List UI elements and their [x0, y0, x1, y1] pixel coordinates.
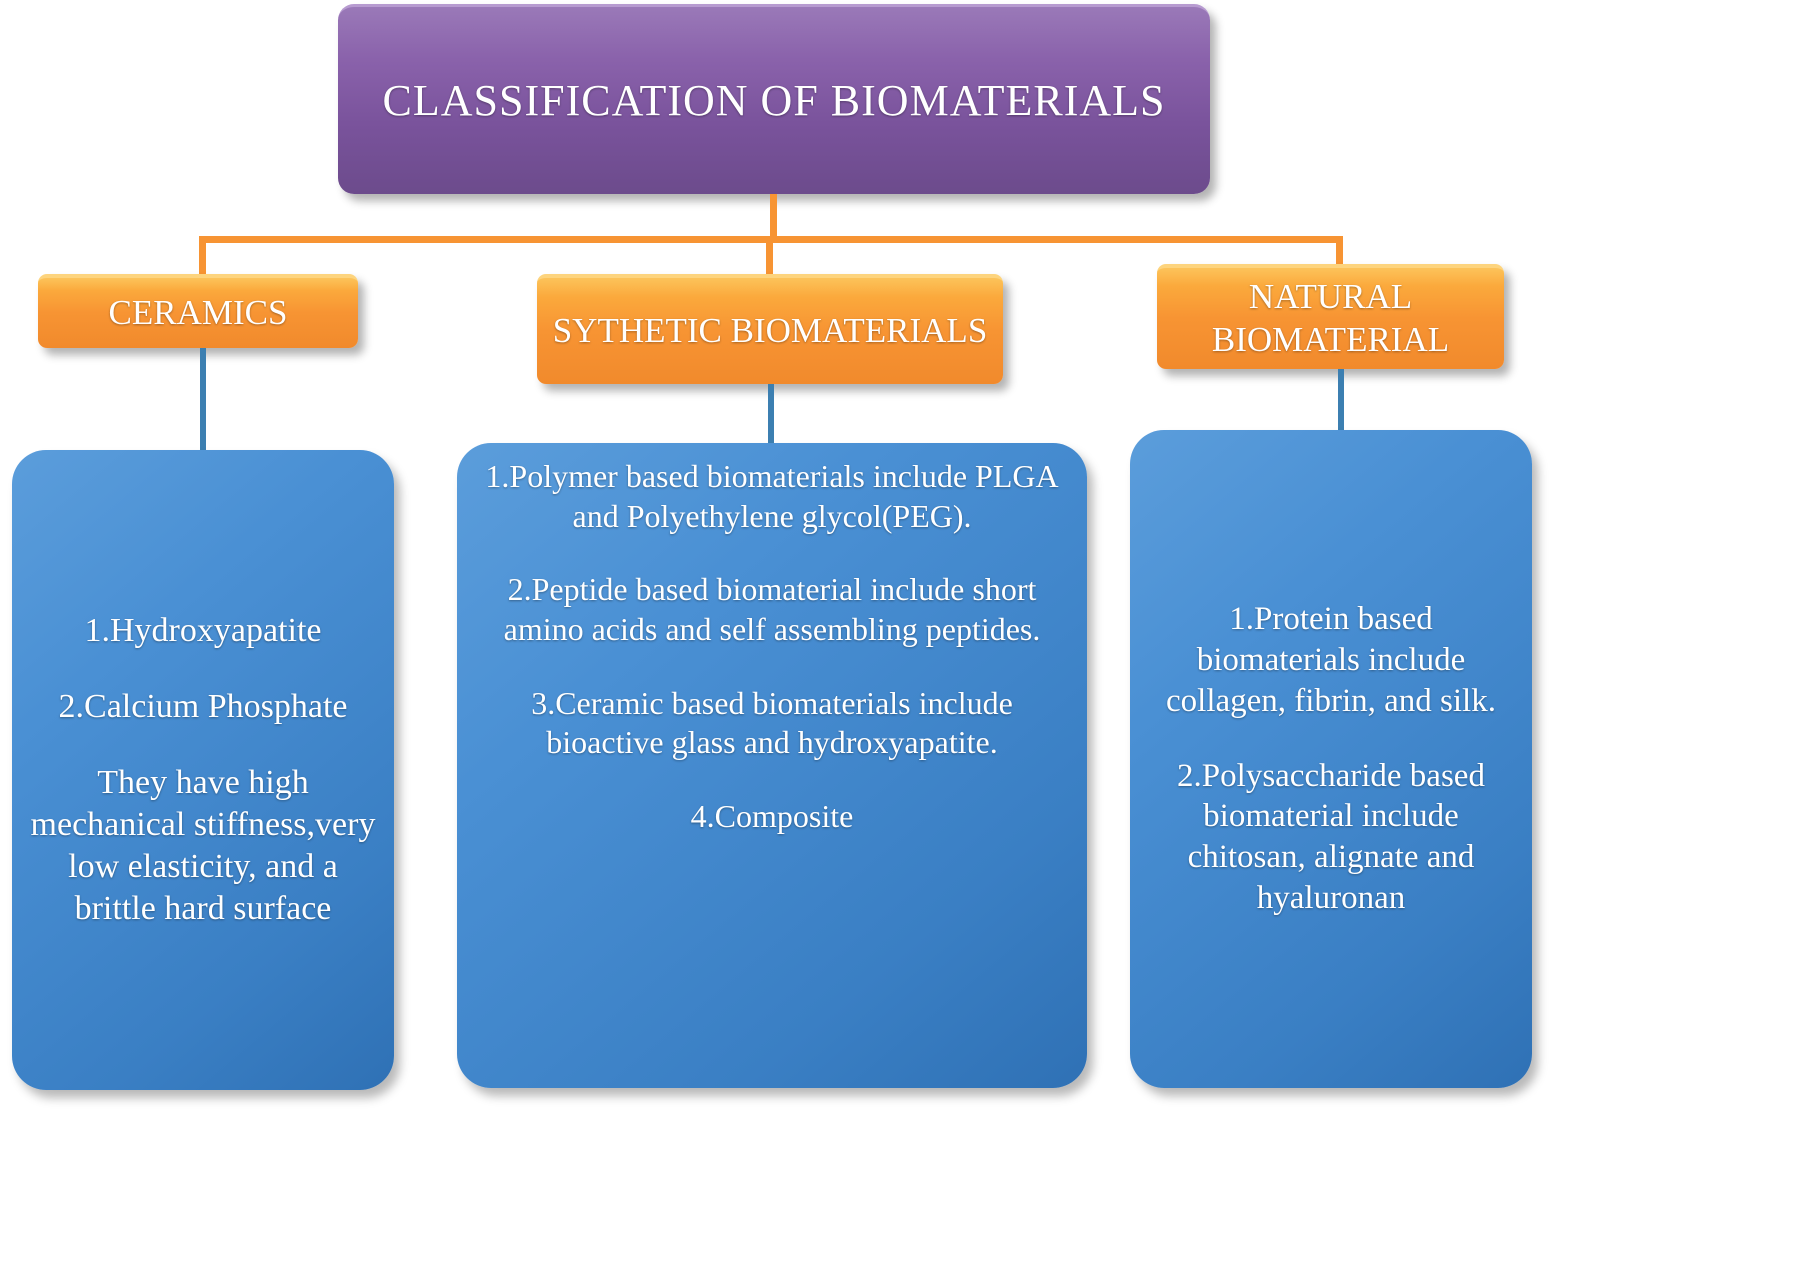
detail-node-synthetic-biomaterials[interactable]: 1.Polymer based biomaterials include PLG…	[457, 443, 1087, 1088]
category-node-ceramics[interactable]: CERAMICS	[38, 274, 358, 348]
detail-node-ceramics[interactable]: 1.Hydroxyapatite 2.Calcium Phosphate The…	[12, 450, 394, 1090]
category-node-natural-biomaterial-label: NATURAL BIOMATERIAL	[1167, 276, 1494, 361]
detail-spacer	[28, 728, 378, 762]
connector-branch-synthetic	[766, 236, 773, 278]
detail-synthetic-item-2: 2.Peptide based biomaterial include shor…	[473, 570, 1071, 649]
category-node-synthetic-biomaterials[interactable]: SYTHETIC BIOMATERIALS	[537, 274, 1003, 384]
diagram-canvas: CLASSIFICATION OF BIOMATERIALS CERAMICS …	[0, 0, 1809, 1275]
category-node-natural-biomaterial[interactable]: NATURAL BIOMATERIAL	[1157, 264, 1504, 369]
connector-natural-to-detail	[1338, 369, 1344, 433]
detail-spacer	[1146, 722, 1516, 756]
root-node-label: CLASSIFICATION OF BIOMATERIALS	[383, 73, 1166, 128]
detail-spacer	[473, 763, 1071, 797]
detail-node-natural-biomaterial[interactable]: 1.Protein based biomaterials include col…	[1130, 430, 1532, 1088]
connector-root-trunk-vertical	[770, 194, 777, 242]
detail-synthetic-item-4: 4.Composite	[473, 797, 1071, 837]
connector-branch-ceramics	[199, 236, 206, 278]
detail-spacer	[473, 536, 1071, 570]
detail-natural-item-2: 2.Polysaccharide based biomaterial inclu…	[1146, 756, 1516, 920]
category-node-synthetic-biomaterials-label: SYTHETIC BIOMATERIALS	[553, 310, 988, 353]
detail-ceramics-item-3: They have high mechanical stiffness,very…	[28, 762, 378, 931]
connector-synthetic-to-detail	[768, 384, 774, 446]
connector-ceramics-to-detail	[200, 348, 206, 452]
detail-synthetic-item-3: 3.Ceramic based biomaterials include bio…	[473, 684, 1071, 763]
detail-ceramics-item-1: 1.Hydroxyapatite	[28, 610, 378, 652]
category-node-ceramics-label: CERAMICS	[109, 292, 288, 335]
detail-spacer	[473, 650, 1071, 684]
detail-ceramics-item-2: 2.Calcium Phosphate	[28, 686, 378, 728]
root-node-classification-of-biomaterials[interactable]: CLASSIFICATION OF BIOMATERIALS	[338, 4, 1210, 194]
detail-natural-item-1: 1.Protein based biomaterials include col…	[1146, 599, 1516, 722]
detail-spacer	[28, 652, 378, 686]
detail-synthetic-item-1: 1.Polymer based biomaterials include PLG…	[473, 457, 1071, 536]
